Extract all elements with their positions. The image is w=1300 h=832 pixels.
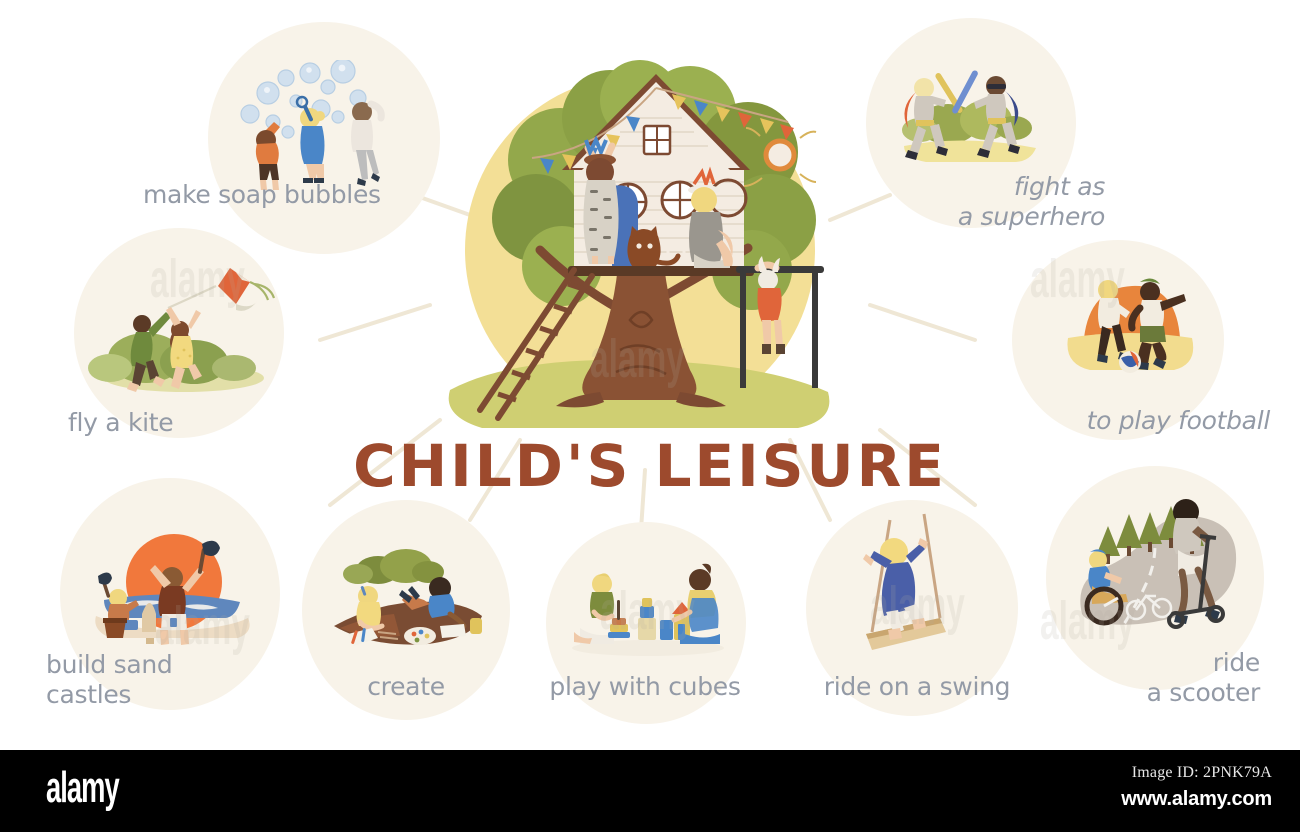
label-ride-on-a-swing: ride on a swing — [812, 672, 1022, 702]
scene-ride-on-a-swing — [836, 510, 986, 660]
scene-make-soap-bubbles — [224, 60, 424, 190]
label-fight-as-a-superhero: fight as a superhero — [850, 172, 1105, 232]
scene-create — [322, 540, 498, 656]
label-make-soap-bubbles: make soap bubbles — [143, 180, 403, 210]
scene-fight-as-a-superhero — [890, 62, 1050, 172]
infographic-poster: make soap bubbles fly a kite — [0, 0, 1300, 832]
scene-build-sand-castles — [76, 520, 266, 650]
page-title: CHILD'S LEISURE — [0, 432, 1300, 500]
scene-fly-a-kite — [84, 250, 284, 400]
scene-to-play-football — [1062, 266, 1202, 386]
scene-ride-a-scooter — [1058, 482, 1254, 652]
label-play-with-cubes: play with cubes — [545, 672, 745, 702]
label-build-sand-castles: build sand castles — [46, 650, 246, 710]
alamy-url-text: www.alamy.com — [1121, 788, 1272, 811]
label-create: create — [306, 672, 506, 702]
label-ride-a-scooter: ride a scooter — [1046, 648, 1260, 708]
image-id-text: Image ID: 2PNK79A — [1132, 764, 1272, 782]
scene-play-with-cubes — [568, 556, 728, 656]
alamy-watermark-bar: alamy Image ID: 2PNK79A www.alamy.com — [0, 750, 1300, 832]
scene-treehouse — [440, 40, 840, 440]
alamy-logo: alamy — [46, 766, 119, 810]
